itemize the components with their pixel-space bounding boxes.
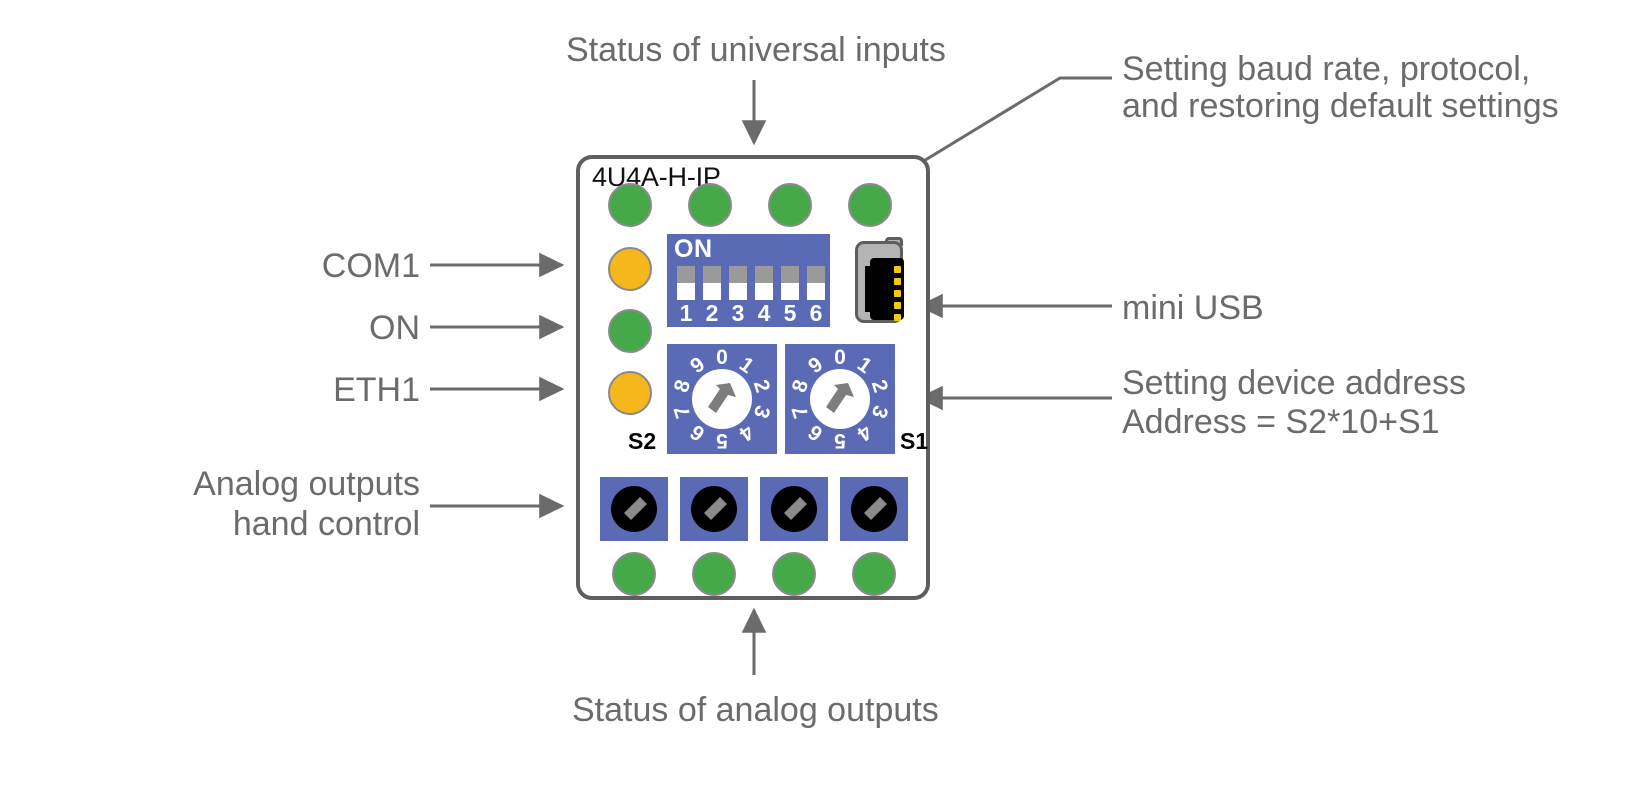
usb-metal-shell xyxy=(855,241,903,323)
annotation-mini-usb: mini USB xyxy=(1122,288,1264,329)
annotation-com1: COM1 xyxy=(230,246,420,287)
annotation-device-address-line1: Setting device address xyxy=(1122,363,1466,404)
rotary-s2-label: S2 xyxy=(628,428,656,455)
rotary-s2-digit-2: 2 xyxy=(748,374,773,399)
led-universal-input-4 xyxy=(848,183,892,227)
annotation-baud-rate-line2: and restoring default settings xyxy=(1122,86,1559,127)
led-universal-input-2 xyxy=(688,183,732,227)
usb-pin-1 xyxy=(894,266,901,273)
analog-output-trimmer-2[interactable] xyxy=(680,477,748,541)
trimmer-2-slot xyxy=(691,486,737,532)
analog-output-trimmer-4[interactable] xyxy=(840,477,908,541)
trimmer-3-slot xyxy=(771,486,817,532)
dip-number-2: 2 xyxy=(703,300,721,327)
led-universal-input-1 xyxy=(608,183,652,227)
device-faceplate: 4U4A-H-IP ON 1 2 3 4 5 6 xyxy=(576,155,930,600)
usb-cavity xyxy=(870,258,904,320)
rotary-s1-digit-3: 3 xyxy=(866,399,891,424)
trimmer-1-slot xyxy=(611,486,657,532)
led-eth1 xyxy=(608,371,652,415)
rotary-s1-label: S1 xyxy=(900,428,928,455)
annotation-eth1: ETH1 xyxy=(230,370,420,411)
rotary-s2-digit-0: 0 xyxy=(712,348,732,368)
dip-switch-3[interactable] xyxy=(729,266,747,300)
diagram-canvas: Status of universal inputs Setting baud … xyxy=(0,0,1648,796)
led-analog-output-4 xyxy=(852,552,896,596)
dip-switch-4[interactable] xyxy=(755,266,773,300)
dip-number-5: 5 xyxy=(781,300,799,327)
usb-pin-4 xyxy=(894,302,901,309)
rotary-switch-s2[interactable]: 0123456789 xyxy=(667,344,777,454)
rotary-s2-digit-5: 5 xyxy=(712,430,732,450)
dip-number-1: 1 xyxy=(677,300,695,327)
dip-number-6: 6 xyxy=(807,300,825,327)
rotary-s1-digit-0: 0 xyxy=(830,348,850,368)
dip-switch-block[interactable]: ON 1 2 3 4 5 6 xyxy=(667,234,830,327)
dip-number-4: 4 xyxy=(755,300,773,327)
annotation-analog-hand-control-line1: Analog outputs xyxy=(140,464,420,505)
rotary-s1-digit-2: 2 xyxy=(866,374,891,399)
dip-switch-6[interactable] xyxy=(807,266,825,300)
rotary-switch-s1[interactable]: 0123456789 xyxy=(785,344,895,454)
dip-on-label: ON xyxy=(674,235,713,264)
dip-switch-1[interactable] xyxy=(677,266,695,300)
led-analog-output-2 xyxy=(692,552,736,596)
annotation-baud-rate-line1: Setting baud rate, protocol, xyxy=(1122,49,1530,90)
annotation-device-address-line2: Address = S2*10+S1 xyxy=(1122,402,1440,443)
dip-switch-5[interactable] xyxy=(781,266,799,300)
led-universal-input-3 xyxy=(768,183,812,227)
usb-pin-3 xyxy=(894,290,901,297)
annotation-on: ON xyxy=(230,308,420,349)
mini-usb-connector[interactable] xyxy=(852,237,907,327)
led-analog-output-1 xyxy=(612,552,656,596)
usb-pin-2 xyxy=(894,278,901,285)
led-on xyxy=(608,309,652,353)
dip-number-3: 3 xyxy=(729,300,747,327)
annotation-status-universal-inputs: Status of universal inputs xyxy=(566,30,946,71)
led-com1 xyxy=(608,247,652,291)
analog-output-trimmer-3[interactable] xyxy=(760,477,828,541)
rotary-s2-digit-3: 3 xyxy=(748,399,773,424)
annotation-analog-hand-control-line2: hand control xyxy=(140,504,420,545)
led-analog-output-3 xyxy=(772,552,816,596)
trimmer-4-slot xyxy=(851,486,897,532)
dip-switch-2[interactable] xyxy=(703,266,721,300)
analog-output-trimmer-1[interactable] xyxy=(600,477,668,541)
rotary-s1-digit-5: 5 xyxy=(830,430,850,450)
usb-pin-5 xyxy=(894,314,901,321)
annotation-status-analog-outputs: Status of analog outputs xyxy=(572,690,939,731)
